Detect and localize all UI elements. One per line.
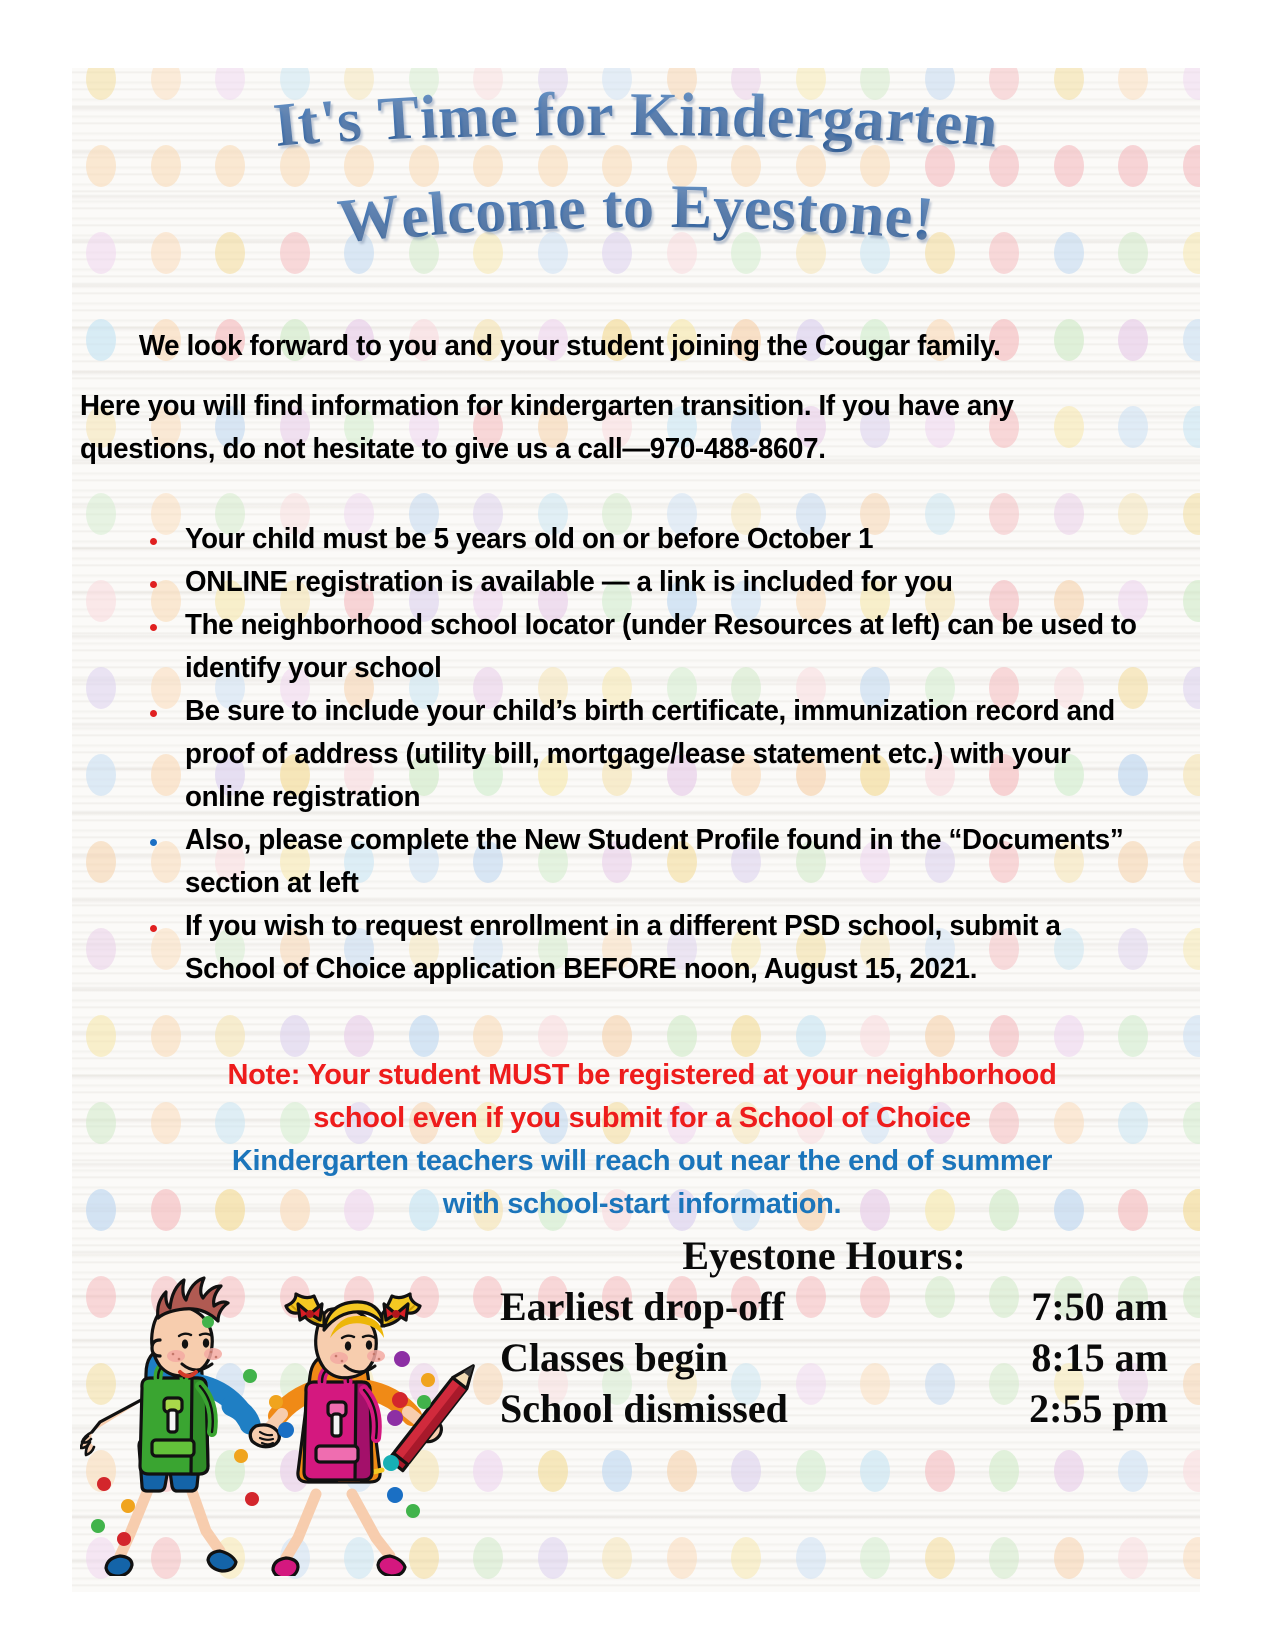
bullet-marker-icon xyxy=(150,624,157,631)
intro-paragraph-2: Here you will find information for kinde… xyxy=(80,385,1131,471)
list-item: ONLINE registration is available — a lin… xyxy=(80,561,1190,604)
registration-note: Note: Your student MUST be registered at… xyxy=(132,1054,1152,1140)
bullet-marker-icon xyxy=(150,538,157,545)
hours-row-value: 8:15 am xyxy=(951,1332,1172,1383)
title-line-2: Welcome to Eyestone! xyxy=(72,184,1200,255)
background-dot xyxy=(1183,1276,1201,1318)
background-dot xyxy=(860,1537,890,1579)
title-char: c xyxy=(444,177,477,250)
bullet-marker-icon xyxy=(150,581,157,588)
title-char: f xyxy=(533,80,556,151)
background-dot xyxy=(989,1537,1019,1579)
title-char xyxy=(585,173,603,244)
background-dot xyxy=(860,1450,890,1492)
teachers-message: Kindergarten teachers will reach out nea… xyxy=(132,1140,1152,1226)
title-line-1: It's Time for Kindergarten xyxy=(72,90,1200,161)
background-dot xyxy=(1118,1450,1148,1492)
title-char: o xyxy=(472,175,508,248)
title-char: n xyxy=(696,80,733,152)
hours-row-label: Classes begin xyxy=(492,1332,951,1383)
title-char: e xyxy=(765,81,796,153)
kids-svg xyxy=(80,1226,480,1576)
title-char: d xyxy=(731,81,769,153)
background-dot xyxy=(667,1015,697,1057)
background-dot xyxy=(731,1537,761,1579)
background-dot xyxy=(796,1450,826,1492)
bullet-marker-icon xyxy=(150,925,157,932)
background-dot xyxy=(86,1015,116,1057)
background-dot xyxy=(1183,1537,1201,1579)
background-dot xyxy=(925,1537,955,1579)
background-dot xyxy=(925,1015,955,1057)
background-dot xyxy=(86,1189,116,1231)
table-row: School dismissed2:55 pm xyxy=(492,1383,1172,1434)
background-dot xyxy=(344,1015,374,1057)
hours-title: Eyestone Hours: xyxy=(492,1231,1172,1281)
title-char: n xyxy=(960,88,1002,162)
background-dot xyxy=(1054,1015,1084,1057)
background-dot xyxy=(989,1015,1019,1057)
title-char: T xyxy=(376,82,422,155)
background-dot xyxy=(602,1450,632,1492)
background-dot xyxy=(538,1537,568,1579)
information-bullet-list: Your child must be 5 years old on or bef… xyxy=(80,518,1190,991)
title-char: t xyxy=(602,172,624,243)
teachers-line-2: with school-start information. xyxy=(132,1183,1152,1226)
background-dot xyxy=(151,1015,181,1057)
title-char: n xyxy=(847,178,888,252)
background-dot xyxy=(1183,1015,1201,1057)
title-char: s xyxy=(771,174,799,246)
title-char: E xyxy=(670,172,713,244)
background-dot xyxy=(1054,1537,1084,1579)
list-item-label: Your child must be 5 years old on or bef… xyxy=(185,518,1145,561)
title-char: r xyxy=(793,82,825,154)
title-char xyxy=(517,81,535,152)
background-dot xyxy=(731,1450,761,1492)
background-dot xyxy=(1118,1537,1148,1579)
title-char xyxy=(655,172,671,243)
title-char: W xyxy=(335,181,405,258)
school-kids-illustration xyxy=(80,1226,480,1576)
school-hours-section: Eyestone Hours: Earliest drop-off7:50 am… xyxy=(492,1231,1172,1434)
title-char: o xyxy=(623,172,655,243)
background-dot xyxy=(1118,1015,1148,1057)
background-dot xyxy=(1183,1450,1201,1492)
background-dot xyxy=(796,1537,826,1579)
title-char: o xyxy=(816,177,853,250)
background-dot xyxy=(1183,1189,1201,1231)
title-char: e xyxy=(557,173,588,245)
title-char: m xyxy=(436,81,491,154)
teachers-line-1: Kindergarten teachers will reach out nea… xyxy=(132,1140,1152,1183)
list-item: The neighborhood school locator (under R… xyxy=(80,604,1190,690)
background-dot xyxy=(409,1015,439,1057)
background-dot xyxy=(1054,1450,1084,1492)
background-dot xyxy=(860,1015,890,1057)
background-dot xyxy=(1183,319,1201,361)
background-dot xyxy=(473,1015,503,1057)
table-row: Classes begin8:15 am xyxy=(492,1332,1172,1383)
bullet-marker-icon xyxy=(150,710,157,717)
title-char xyxy=(614,80,630,151)
background-dot xyxy=(667,1537,697,1579)
background-dot xyxy=(538,1015,568,1057)
list-item: Be sure to include your child’s birth ce… xyxy=(80,690,1190,819)
title-char: y xyxy=(712,172,745,244)
background-dot xyxy=(667,1450,697,1492)
list-item-label: The neighborhood school locator (under R… xyxy=(185,604,1145,690)
background-dot xyxy=(280,1015,310,1057)
background-dot xyxy=(925,1450,955,1492)
title-char: r xyxy=(586,80,614,151)
list-item-label: Be sure to include your child’s birth ce… xyxy=(185,690,1145,819)
list-item-label: ONLINE registration is available — a lin… xyxy=(185,561,1145,604)
list-item-label: If you wish to request enrollment in a d… xyxy=(185,905,1145,991)
flyer-page: It's Time for Kindergarten Welcome to Ey… xyxy=(72,68,1200,1592)
hours-table: Earliest drop-off7:50 amClasses begin8:1… xyxy=(492,1281,1172,1434)
hours-row-value: 7:50 am xyxy=(951,1281,1172,1332)
note-line-1: Note: Your student MUST be registered at… xyxy=(132,1054,1152,1097)
list-item: Also, please complete the New Student Pr… xyxy=(80,819,1190,905)
background-dot xyxy=(989,1450,1019,1492)
background-dot xyxy=(538,1450,568,1492)
background-dot xyxy=(1183,1102,1201,1144)
title-char: K xyxy=(630,80,680,152)
background-dot xyxy=(602,1015,632,1057)
background-dot xyxy=(1183,1363,1201,1405)
background-dot xyxy=(796,1015,826,1057)
bullet-marker-icon xyxy=(150,839,157,846)
list-item-label: Also, please complete the New Student Pr… xyxy=(185,819,1145,905)
note-line-2: school even if you submit for a School o… xyxy=(132,1097,1152,1140)
hours-row-label: School dismissed xyxy=(492,1383,951,1434)
list-item: If you wish to request enrollment in a d… xyxy=(80,905,1190,991)
hours-row-value: 2:55 pm xyxy=(951,1383,1172,1434)
list-item: Your child must be 5 years old on or bef… xyxy=(80,518,1190,561)
background-dot xyxy=(1183,406,1201,448)
title-char: m xyxy=(504,173,560,246)
title-char: o xyxy=(554,80,586,151)
title-char: e xyxy=(488,81,519,153)
intro-paragraph-1: We look forward to you and your student … xyxy=(114,325,1136,368)
page-title: It's Time for Kindergarten Welcome to Ey… xyxy=(72,76,1200,286)
background-dot xyxy=(86,319,116,361)
background-dot xyxy=(86,1102,116,1144)
table-row: Earliest drop-off7:50 am xyxy=(492,1281,1172,1332)
background-dot xyxy=(602,1537,632,1579)
hours-row-label: Earliest drop-off xyxy=(492,1281,951,1332)
title-char: e xyxy=(743,173,774,245)
background-dot xyxy=(731,1015,761,1057)
title-char: i xyxy=(678,80,697,151)
background-dot xyxy=(215,1015,245,1057)
